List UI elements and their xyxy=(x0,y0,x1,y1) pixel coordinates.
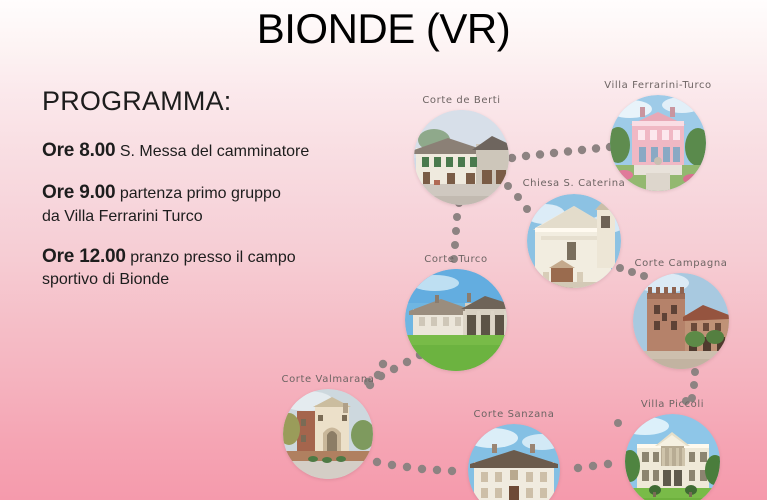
corte-campagna-photo[interactable] xyxy=(633,273,729,369)
villa-piccoli-photo[interactable] xyxy=(625,414,720,500)
map-node-label: Corte de Berti xyxy=(422,95,500,106)
connector-campagna-to-piccoli xyxy=(688,368,699,402)
poster-canvas: DOMENICA 11 SETTEMBRE 2016 BIONDE (VR) P… xyxy=(0,0,767,500)
map-node-label: Villa Piccoli xyxy=(641,399,704,410)
map-node-corte-campagna[interactable]: Corte Campagna xyxy=(633,258,729,369)
map-node-corte-de-berti[interactable]: Corte de Berti xyxy=(414,95,509,205)
map-node-label: Villa Ferrarini-Turco xyxy=(604,80,712,91)
map-node-chiesa-s-caterina[interactable]: Chiesa S. Caterina xyxy=(527,178,621,288)
corte-valmarana-photo[interactable] xyxy=(283,389,373,479)
map-node-label: Corte Turco xyxy=(424,254,488,265)
map-node-label: Chiesa S. Caterina xyxy=(523,178,626,189)
map-node-villa-ferrarini-turco[interactable]: Villa Ferrarini-Turco xyxy=(610,80,706,191)
chiesa-s-caterina-photo[interactable] xyxy=(527,194,621,288)
connector-berti-to-ferrarini xyxy=(508,143,614,162)
map-node-corte-turco[interactable]: Corte Turco xyxy=(405,254,507,371)
corte-sanzana-photo[interactable] xyxy=(468,424,560,500)
map-node-corte-valmarana[interactable]: Corte Valmarana xyxy=(283,374,373,479)
map-node-corte-sanzana[interactable]: Corte Sanzana xyxy=(468,409,560,500)
connector-sanzana-to-piccoli xyxy=(574,460,612,472)
map-node-villa-piccoli[interactable]: Villa Piccoli xyxy=(625,399,720,500)
connector-valmarana-to-sanzana xyxy=(373,458,456,475)
map-node-label: Corte Campagna xyxy=(634,258,727,269)
corte-turco-photo[interactable] xyxy=(405,269,507,371)
villa-ferrarini-turco-photo[interactable] xyxy=(610,95,706,191)
corte-de-berti-photo[interactable] xyxy=(414,110,509,205)
map-node-label: Corte Valmarana xyxy=(281,374,374,385)
map-node-label: Corte Sanzana xyxy=(474,409,555,420)
